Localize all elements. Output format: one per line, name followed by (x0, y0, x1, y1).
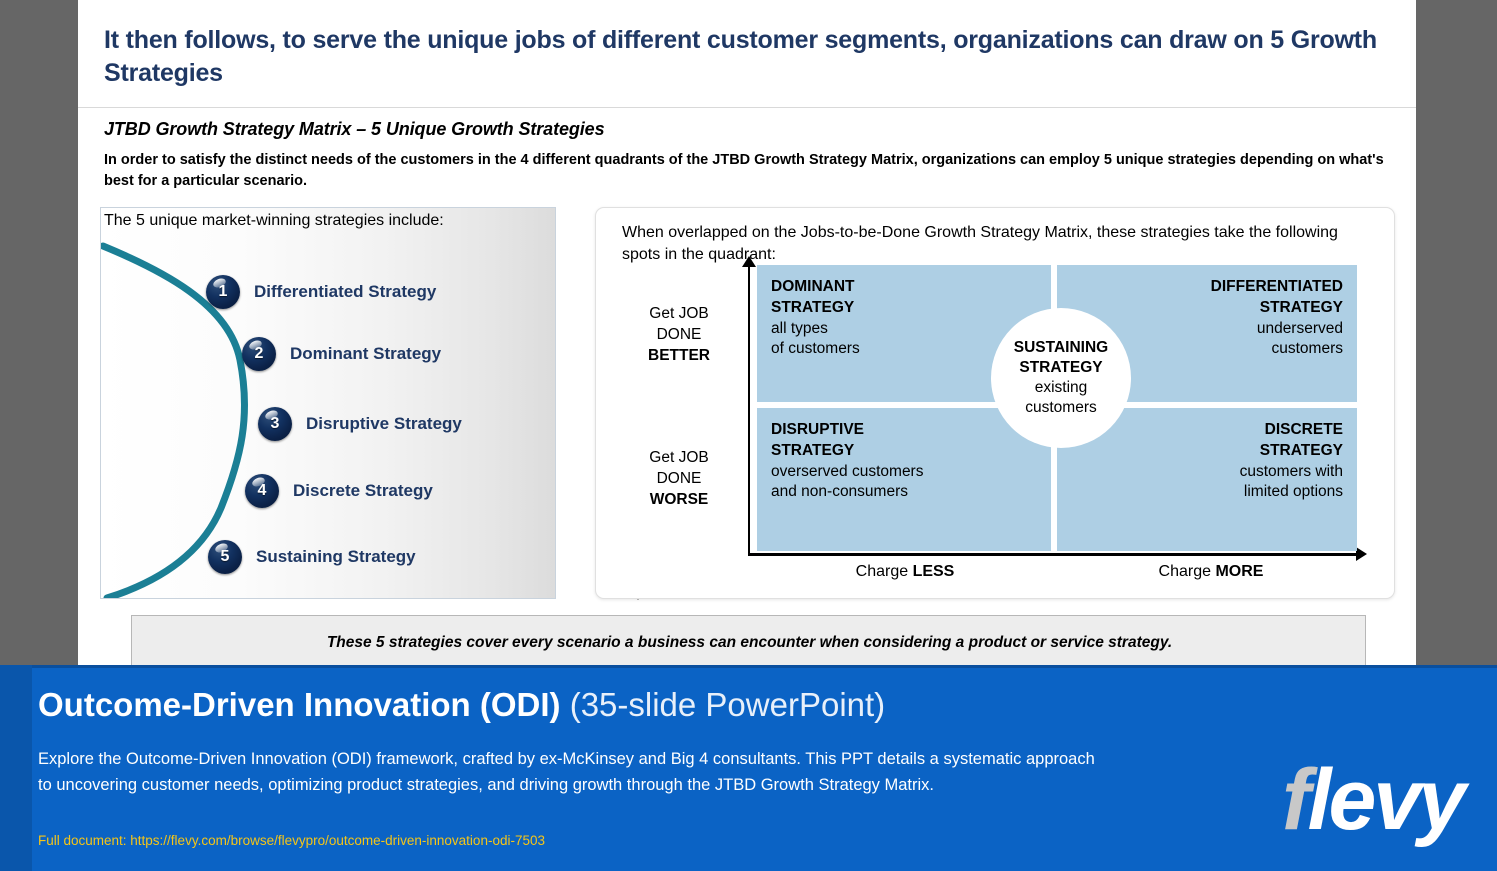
x-axis-right-prefix: Charge (1159, 563, 1216, 580)
page-title: It then follows, to serve the unique job… (104, 24, 1384, 90)
quadrant-desc-line1: overserved customers (771, 462, 1037, 483)
summary-callout-box: These 5 strategies cover every scenario … (131, 615, 1366, 669)
x-axis-label-left: Charge LESS (790, 563, 1020, 581)
banner-description: Explore the Outcome-Driven Innovation (O… (38, 747, 1098, 798)
x-axis-left-emphasis: LESS (913, 563, 955, 580)
step-number: 1 (206, 275, 240, 309)
step-number-badge: 5 (208, 540, 242, 574)
y-axis-bottom-line1: Get JOB (624, 448, 734, 469)
banner-title-strong: Outcome-Driven Innovation (ODI) (38, 686, 561, 723)
y-axis-label-top: Get JOB DONE BETTER (624, 304, 734, 366)
step-number: 3 (258, 407, 292, 441)
y-axis-label-bottom: Get JOB DONE WORSE (624, 448, 734, 510)
center-title-line2: STRATEGY (1019, 358, 1102, 378)
quadrant-title-line2: STRATEGY (1071, 441, 1343, 462)
step-number-badge: 2 (242, 337, 276, 371)
step-number-badge: 3 (258, 407, 292, 441)
y-axis-top-line1: Get JOB (624, 304, 734, 325)
y-axis-line (748, 265, 750, 553)
quadrant-disruptive-strategy[interactable]: DISRUPTIVE STRATEGY overserved customers… (757, 408, 1051, 551)
title-divider (78, 107, 1416, 108)
flevy-logo-rest: levy (1308, 752, 1463, 848)
banner-title: Outcome-Driven Innovation (ODI) (35-slid… (38, 686, 1218, 724)
quadrant-title-line2: STRATEGY (1071, 298, 1343, 319)
y-axis-bottom-line2: DONE (624, 469, 734, 490)
strategy-step-4[interactable]: 4 Discrete Strategy (245, 474, 433, 508)
y-axis-bottom-line3: WORSE (624, 490, 734, 511)
matrix-panel: When overlapped on the Jobs-to-be-Done G… (595, 207, 1395, 599)
step-number: 5 (208, 540, 242, 574)
center-desc-line1: existing (1035, 378, 1088, 398)
flevy-logo[interactable]: flevy (1282, 757, 1482, 843)
quadrant-title-line1: DOMINANT (771, 277, 1037, 298)
y-axis-top-line3: BETTER (624, 346, 734, 367)
x-axis-line (748, 553, 1360, 556)
y-axis-top-line2: DONE (624, 325, 734, 346)
center-desc-line2: customers (1025, 398, 1097, 418)
step-label: Dominant Strategy (290, 344, 441, 364)
x-axis-right-emphasis: MORE (1215, 563, 1263, 580)
section-heading: JTBD Growth Strategy Matrix – 5 Unique G… (104, 119, 1394, 140)
x-axis-left-prefix: Charge (856, 563, 913, 580)
x-axis-arrow-icon (1356, 547, 1367, 561)
screenshot-stage: It then follows, to serve the unique job… (0, 0, 1497, 871)
quadrant-desc-line1: customers with (1071, 462, 1343, 483)
jtbd-growth-strategy-matrix: Get JOB DONE BETTER Get JOB DONE WORSE D… (596, 208, 1396, 600)
strategy-step-2[interactable]: 2 Dominant Strategy (242, 337, 441, 371)
strategy-step-3[interactable]: 3 Disruptive Strategy (258, 407, 462, 441)
center-sustaining-strategy[interactable]: SUSTAINING STRATEGY existing customers (991, 308, 1131, 448)
quadrant-desc-line1: all types (771, 319, 1037, 340)
banner-left-edge (0, 665, 32, 871)
step-label: Disruptive Strategy (306, 414, 462, 434)
center-title-line1: SUSTAINING (1014, 338, 1108, 358)
step-label: Sustaining Strategy (256, 547, 416, 567)
banner-document-link[interactable]: Full document: https://flevy.com/browse/… (38, 833, 1038, 848)
quadrant-title-line1: DIFFERENTIATED (1071, 277, 1343, 298)
banner-top-edge (0, 665, 1497, 668)
strategy-step-5[interactable]: 5 Sustaining Strategy (208, 540, 416, 574)
quadrant-desc-line2: and non-consumers (771, 482, 1037, 503)
section-body: In order to satisfy the distinct needs o… (104, 150, 1394, 191)
strategy-step-1[interactable]: 1 Differentiated Strategy (206, 275, 436, 309)
step-label: Differentiated Strategy (254, 282, 436, 302)
summary-callout-text: These 5 strategies cover every scenario … (132, 616, 1367, 669)
quadrant-desc-line2: limited options (1071, 482, 1343, 503)
x-axis-label-right: Charge MORE (1096, 563, 1326, 581)
slide-card: It then follows, to serve the unique job… (78, 0, 1416, 669)
quadrant-title-line1: DISRUPTIVE (771, 420, 1037, 441)
flevy-logo-f: f (1282, 752, 1308, 848)
y-axis-arrow-icon (742, 256, 756, 267)
quadrant-title-line2: STRATEGY (771, 441, 1037, 462)
step-number-badge: 4 (245, 474, 279, 508)
product-banner: Outcome-Driven Innovation (ODI) (35-slid… (0, 665, 1497, 871)
step-number-badge: 1 (206, 275, 240, 309)
quadrant-title-line2: STRATEGY (771, 298, 1037, 319)
banner-title-sub: (35-slide PowerPoint) (561, 686, 886, 723)
step-label: Discrete Strategy (293, 481, 433, 501)
strategies-list-lead: The 5 unique market-winning strategies i… (104, 212, 564, 230)
step-number: 4 (245, 474, 279, 508)
step-number: 2 (242, 337, 276, 371)
